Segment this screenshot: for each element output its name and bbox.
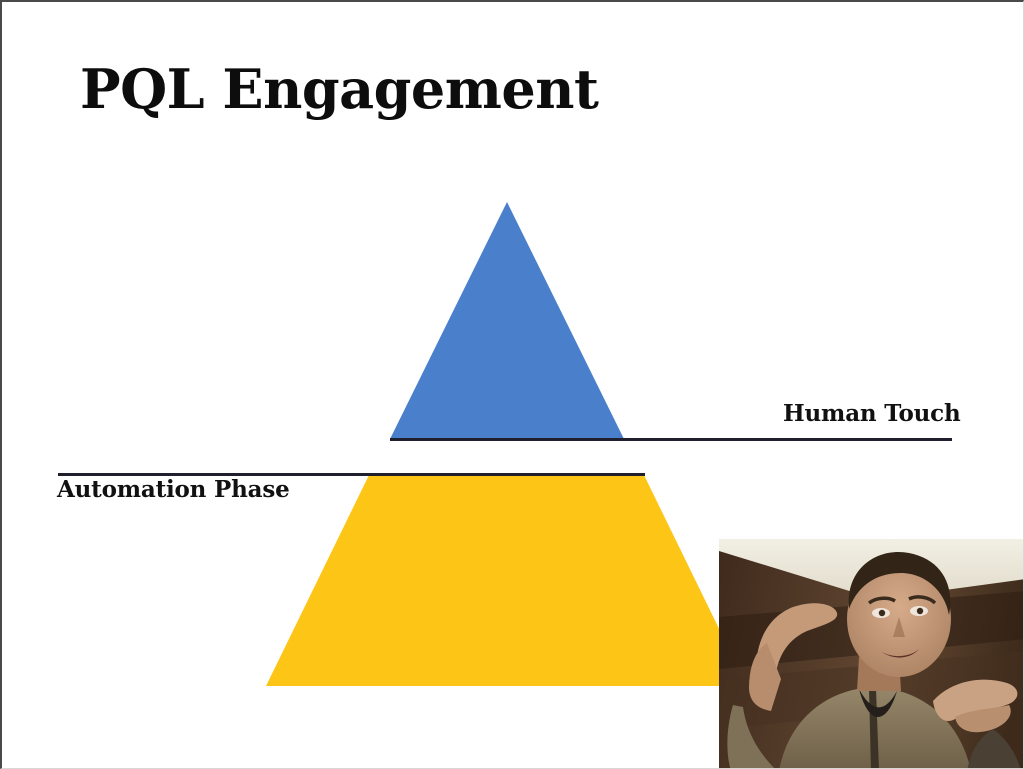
human-touch-label: Human Touch (783, 401, 961, 427)
presenter-pupil-left (879, 610, 885, 616)
automation-phase-trapezoid (266, 475, 747, 686)
human-touch-triangle (390, 202, 624, 439)
automation-phase-label: Automation Phase (57, 477, 290, 503)
presenter-webcam-overlay[interactable] (719, 539, 1024, 769)
presenter-pupil-right (917, 608, 923, 614)
slide-canvas: PQL Engagement Human Touch Automation Ph… (0, 0, 1024, 769)
